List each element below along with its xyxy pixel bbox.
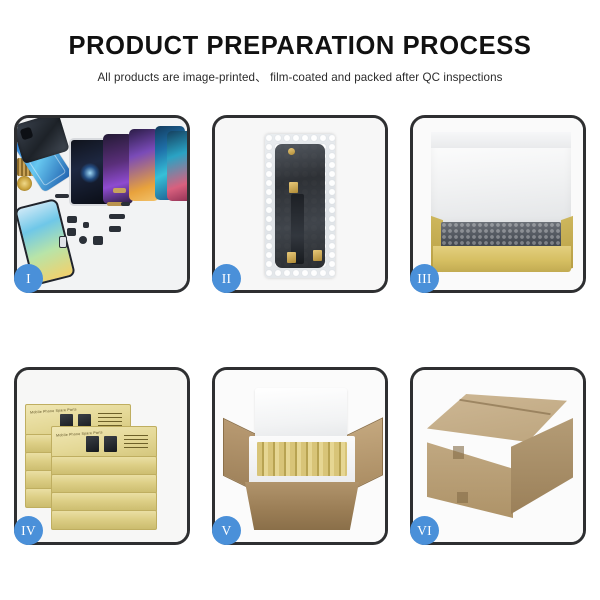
infographic-page: PRODUCT PREPARATION PROCESS All products… bbox=[0, 0, 600, 600]
box-chip-icon bbox=[104, 436, 117, 452]
carton-tape-icon bbox=[457, 492, 468, 503]
spare-part-icon bbox=[113, 188, 126, 193]
box-lid-icon bbox=[431, 132, 571, 228]
step-badge-1: I bbox=[14, 264, 43, 293]
box-chip-icon bbox=[86, 436, 99, 452]
process-step-3: III bbox=[410, 115, 586, 293]
step-3-image bbox=[413, 118, 583, 290]
step-6-image bbox=[413, 370, 583, 542]
spare-part-icon bbox=[79, 236, 87, 244]
phone-pink-icon bbox=[167, 131, 187, 201]
spare-part-icon bbox=[55, 194, 69, 198]
box-barline bbox=[124, 439, 148, 440]
spare-part-icon bbox=[67, 228, 76, 236]
step-badge-2: II bbox=[212, 264, 241, 293]
spare-part-icon bbox=[67, 216, 77, 223]
step-5-image bbox=[215, 370, 385, 542]
process-step-1: I bbox=[14, 115, 190, 293]
spare-part-icon bbox=[83, 222, 89, 228]
spare-part-icon bbox=[109, 226, 121, 232]
box-front-icon bbox=[433, 246, 571, 272]
gold-connector-icon bbox=[313, 250, 322, 261]
gold-connector-icon bbox=[288, 148, 295, 155]
stacked-box bbox=[51, 492, 157, 512]
stacked-box: Mobile Phone Spare Parts bbox=[51, 426, 157, 458]
gold-connector-icon bbox=[287, 252, 296, 263]
process-step-6: VI bbox=[410, 367, 586, 545]
step-2-image bbox=[215, 118, 385, 290]
step-badge-6: VI bbox=[410, 516, 439, 545]
carton-body-icon bbox=[245, 482, 359, 530]
box-barline bbox=[98, 417, 122, 418]
box-stack-icon: Mobile Phone Spare Parts Mobile P bbox=[23, 394, 185, 524]
carton-tape-icon bbox=[453, 446, 464, 459]
page-subtitle: All products are image-printed、 film-coa… bbox=[0, 69, 600, 85]
stacked-box bbox=[51, 474, 157, 494]
box-barline bbox=[124, 435, 148, 436]
spare-part-icon bbox=[93, 236, 103, 245]
process-grid: I II bbox=[14, 115, 586, 545]
spare-part-icon bbox=[59, 236, 67, 248]
bubble-wrap-icon bbox=[265, 134, 335, 278]
process-step-5: V bbox=[212, 367, 388, 545]
box-barline bbox=[98, 421, 122, 422]
header: PRODUCT PREPARATION PROCESS All products… bbox=[0, 33, 600, 85]
process-step-2: II bbox=[212, 115, 388, 293]
stacked-box bbox=[51, 510, 157, 530]
page-title: PRODUCT PREPARATION PROCESS bbox=[0, 33, 600, 60]
box-barline bbox=[98, 413, 122, 414]
box-barline bbox=[124, 443, 148, 444]
spare-part-icon bbox=[121, 202, 130, 206]
coil-part-icon bbox=[17, 176, 32, 191]
gold-connector-icon bbox=[289, 182, 298, 193]
step-badge-5: V bbox=[212, 516, 241, 545]
stacked-box bbox=[51, 456, 157, 476]
spare-part-icon bbox=[109, 214, 125, 219]
step-1-image bbox=[17, 118, 187, 290]
step-badge-4: IV bbox=[14, 516, 43, 545]
process-step-4: Mobile Phone Spare Parts Mobile P bbox=[14, 367, 190, 545]
box-barline bbox=[124, 447, 148, 448]
carton-left-face-icon bbox=[427, 430, 513, 518]
step-badge-3: III bbox=[410, 264, 439, 293]
packed-boxes-icon bbox=[257, 442, 347, 476]
step-4-image: Mobile Phone Spare Parts Mobile P bbox=[17, 370, 187, 542]
